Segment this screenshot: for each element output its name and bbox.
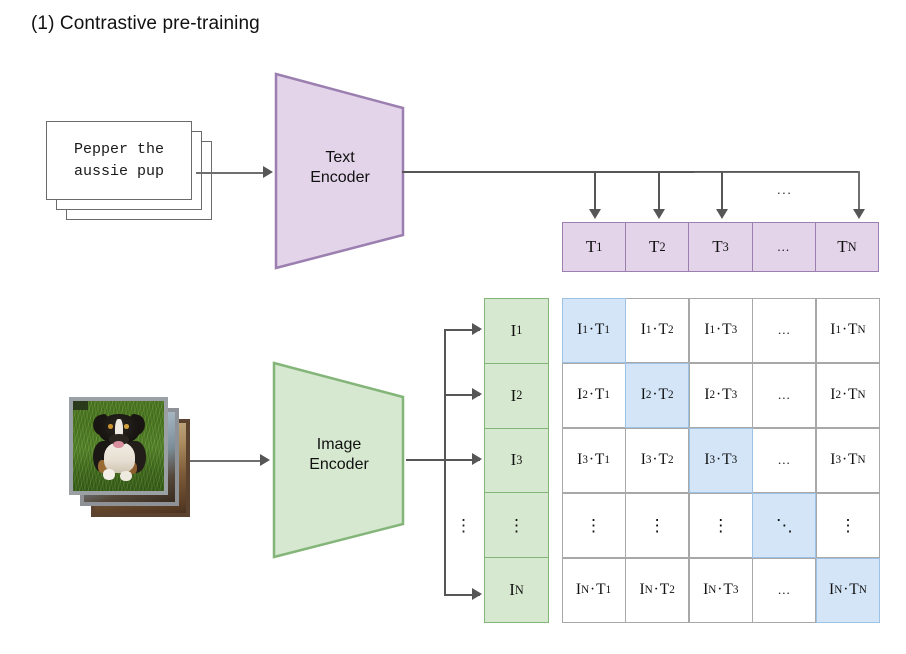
matrix-cell-r3-c4: ...: [752, 428, 816, 494]
puppy-illustration: [73, 401, 164, 491]
image-embedding-cell-4: ⋮: [484, 492, 549, 558]
matrix-cell-r2-c3: I2·T3: [689, 363, 753, 429]
matrix-cell-r3-c2: I3·T2: [625, 428, 689, 494]
matrix-cell-r5-c1: IN·T1: [562, 558, 626, 624]
matrix-cell-r3-c5: I3·TN: [816, 428, 880, 494]
matrix-cell-r1-c3: I1·T3: [689, 298, 753, 364]
i2-branch-arrowhead: [472, 388, 482, 400]
text-bus-ellipsis: ...: [777, 182, 792, 197]
matrix-cell-r1-c5: I1·TN: [816, 298, 880, 364]
i3-branch-arrowhead: [472, 453, 482, 465]
text-embedding-bus-thin-segment: [694, 172, 860, 173]
t3-drop-line: [721, 171, 723, 211]
i1-branch-arrowhead: [472, 323, 482, 335]
matrix-cell-r5-c3: IN·T3: [689, 558, 753, 624]
image-embedding-column: I1I2I3⋮IN: [484, 298, 549, 623]
image-bus-ellipsis: ⋮: [455, 517, 472, 534]
similarity-matrix: I1·T1I1·T2I1·T3...I1·TNI2·T1I2·T2I2·T3..…: [562, 298, 880, 623]
text-embedding-cell-1: T1: [562, 222, 626, 272]
image-embedding-cell-5: IN: [484, 557, 549, 623]
text-embedding-cell-4: ...: [752, 222, 816, 272]
text-embedding-cell-3: T3: [688, 222, 752, 272]
t2-drop-line: [658, 171, 660, 211]
matrix-cell-r4-c3: ⋮: [689, 493, 753, 559]
text-card-caption: Pepper the aussie pup: [46, 121, 192, 200]
image-embedding-cell-3: I3: [484, 428, 549, 494]
matrix-cell-r4-c4: ⋱: [752, 493, 816, 559]
matrix-cell-r2-c2: I2·T2: [625, 363, 689, 429]
t1-drop-arrowhead: [589, 209, 601, 219]
puppy-paw-left: [103, 469, 115, 480]
diagram-canvas: (1) Contrastive pre-training Pepper the …: [0, 0, 906, 654]
text-to-encoder-line: [196, 172, 264, 174]
t2-drop-arrowhead: [653, 209, 665, 219]
matrix-cell-r4-c5: ⋮: [816, 493, 880, 559]
text-embedding-cell-2: T2: [625, 222, 689, 272]
matrix-cell-r1-c4: ...: [752, 298, 816, 364]
image-embedding-bus-vertical: [444, 329, 446, 594]
t3-drop-arrowhead: [716, 209, 728, 219]
text-encoder-block[interactable]: Text Encoder: [272, 70, 408, 272]
matrix-cell-r4-c1: ⋮: [562, 493, 626, 559]
image-to-encoder-line: [189, 460, 261, 462]
text-embedding-row: T1T2T3...TN: [562, 222, 879, 272]
text-card-line-1: Pepper the: [74, 139, 164, 161]
matrix-cell-r1-c1: I1·T1: [562, 298, 626, 364]
image-encoder-block[interactable]: Image Encoder: [269, 359, 409, 561]
image-embedding-cell-1: I1: [484, 298, 549, 364]
image-encoder-shape: [269, 359, 409, 561]
tn-drop-line: [858, 171, 860, 211]
matrix-cell-r5-c2: IN·T2: [625, 558, 689, 624]
text-card-line-2: aussie pup: [74, 161, 164, 183]
photo-corner-shadow: [73, 401, 88, 410]
puppy-tongue: [113, 441, 124, 448]
t1-drop-line: [594, 171, 596, 211]
matrix-cell-r4-c2: ⋮: [625, 493, 689, 559]
matrix-cell-r3-c3: I3·T3: [689, 428, 753, 494]
in-branch-arrowhead: [472, 588, 482, 600]
image-embedding-cell-2: I2: [484, 363, 549, 429]
matrix-cell-r2-c4: ...: [752, 363, 816, 429]
text-embedding-cell-5: TN: [815, 222, 879, 272]
image-embedding-bus-stub: [406, 459, 446, 461]
matrix-cell-r2-c1: I2·T1: [562, 363, 626, 429]
matrix-cell-r2-c5: I2·TN: [816, 363, 880, 429]
matrix-cell-r1-c2: I1·T2: [625, 298, 689, 364]
photo-front-puppy: [69, 397, 168, 495]
page-title: (1) Contrastive pre-training: [31, 13, 260, 35]
text-encoder-shape: [272, 70, 408, 272]
matrix-cell-r3-c1: I3·T1: [562, 428, 626, 494]
puppy-eye-left: [108, 424, 113, 429]
matrix-cell-r5-c5: IN·TN: [816, 558, 880, 624]
tn-drop-arrowhead: [853, 209, 865, 219]
puppy-paw-right: [120, 471, 132, 481]
matrix-cell-r5-c4: ...: [752, 558, 816, 624]
